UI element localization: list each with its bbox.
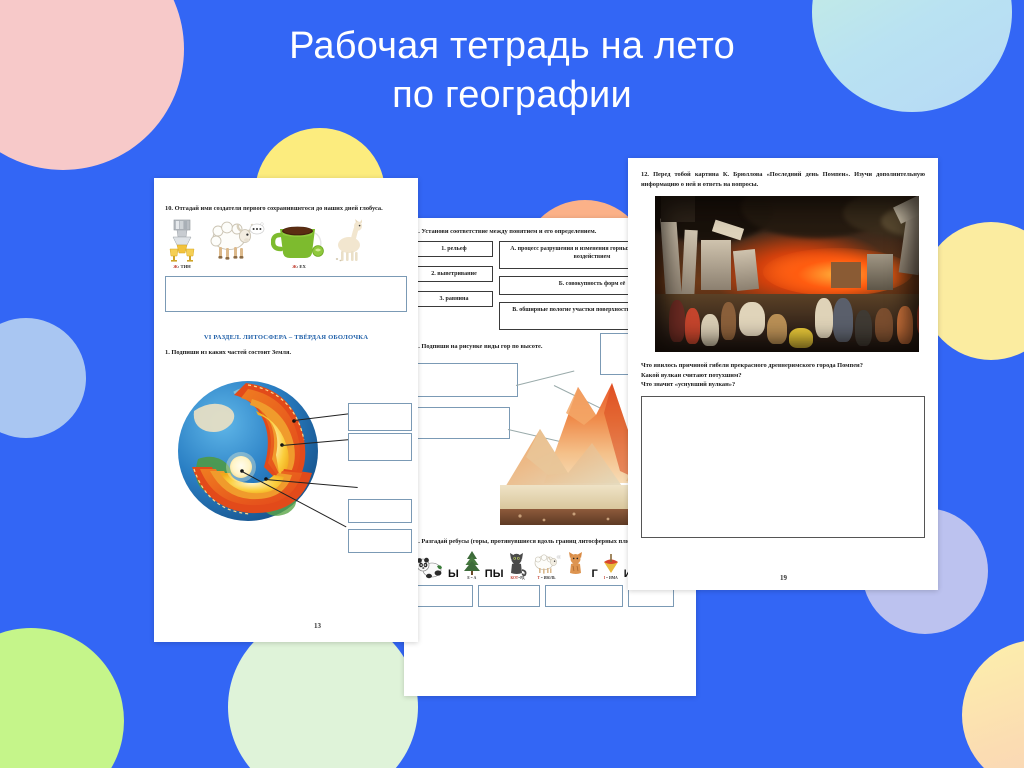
painting-last-day-of-pompeii bbox=[655, 196, 919, 352]
task9-text: Разгадай ребусы (горы, протянувшиеся вдо… bbox=[421, 538, 636, 545]
task1-prompt: 1. Подпиши из каких частей состоит Земля… bbox=[165, 348, 407, 358]
task10-caption-3: Ж: ЕХ bbox=[271, 264, 327, 269]
circle-peach-gradient-bottom-right bbox=[962, 640, 1024, 768]
task12-number: 12. bbox=[641, 171, 649, 178]
task12-prompt: 12. Перед тобой картина К. Брюллова «Пос… bbox=[641, 170, 925, 189]
task9-rebus-item-6: І = ИМА bbox=[601, 552, 621, 580]
task9-rebus-item-1 bbox=[415, 556, 445, 580]
cat-icon bbox=[506, 550, 528, 576]
task12-question-2: Какой вулкан считают потухшим? bbox=[641, 371, 925, 381]
page-title: Рабочая тетрадь на лето по географии bbox=[0, 22, 1024, 119]
sheep-icon bbox=[205, 219, 265, 263]
task9-letters-5: Г bbox=[591, 568, 597, 580]
task12-answer-box[interactable] bbox=[641, 396, 925, 538]
task9-caption-2: Е = А bbox=[462, 576, 482, 580]
lynx-icon bbox=[564, 550, 588, 576]
section-heading: VI РАЗДЕЛ. ЛИТОСФЕРА – ТВЁРДАЯ ОБОЛОЧКА bbox=[165, 334, 407, 341]
top-spinner-icon bbox=[601, 552, 621, 576]
task9-rebus-item-3: КОТ=РД bbox=[506, 550, 528, 580]
glass-beaker-icon bbox=[165, 219, 199, 263]
slide-canvas: Рабочая тетрадь на лето по географии 7. … bbox=[0, 0, 1024, 768]
task1-label-box-1[interactable] bbox=[348, 403, 412, 431]
sheep-icon bbox=[531, 552, 561, 576]
task10-rebus-row: Ж: ТИН bbox=[165, 219, 407, 269]
task10-answer-box[interactable] bbox=[165, 276, 407, 312]
task10-caption-4 bbox=[333, 264, 365, 269]
painting-vignette bbox=[655, 196, 919, 352]
task9-rebus-item-2: Е = А bbox=[462, 550, 482, 580]
worksheet-sheet-right[interactable]: 12. Перед тобой картина К. Брюллова «Пос… bbox=[628, 158, 938, 590]
llama-icon bbox=[333, 219, 365, 263]
task10-caption-2 bbox=[205, 264, 265, 269]
task9-letters-2: ПЫ bbox=[485, 568, 504, 580]
task9-rebus-item-5 bbox=[564, 550, 588, 580]
task10-rebus-item-4 bbox=[333, 219, 365, 269]
panda-icon bbox=[415, 556, 445, 580]
task9-answer-box-2[interactable] bbox=[478, 585, 540, 607]
task7-text: Установи соответствие между понятием и е… bbox=[421, 228, 596, 235]
task10-text: Отгадай имя создателя первого сохранивше… bbox=[175, 205, 383, 212]
task9-caption-4: Т = ИЮЛЬ bbox=[531, 576, 561, 580]
task12-question-3: Что значит «уснувший вулкан»? bbox=[641, 380, 925, 390]
task1-figure bbox=[154, 357, 418, 553]
task9-letters-1: Ы bbox=[448, 568, 459, 580]
task7-left-column: 1. рельеф 2. выветривание 3. равнина bbox=[415, 241, 493, 330]
task12-text: Перед тобой картина К. Брюллова «Последн… bbox=[641, 171, 925, 188]
task1-label-box-3[interactable] bbox=[348, 499, 412, 523]
page-number-right: 19 bbox=[780, 574, 787, 582]
task9-caption-5 bbox=[564, 576, 588, 580]
fir-tree-icon bbox=[462, 550, 482, 576]
task10-rebus-item-1: Ж: ТИН bbox=[165, 219, 199, 269]
green-cup-icon bbox=[271, 219, 327, 263]
task7-left-item-2[interactable]: 2. выветривание bbox=[415, 266, 493, 282]
worksheet-sheet-left[interactable]: 10. Отгадай имя создателя первого сохран… bbox=[154, 178, 418, 642]
task8-text: Подпиши на рисунке виды гор по высоте. bbox=[421, 343, 542, 350]
task9-answer-box-1[interactable] bbox=[415, 585, 473, 607]
task10-caption-1: Ж: ТИН bbox=[165, 264, 199, 269]
task10-prompt: 10. Отгадай имя создателя первого сохран… bbox=[165, 204, 407, 214]
task1-label-box-4[interactable] bbox=[348, 529, 412, 553]
task10-number: 10. bbox=[165, 205, 173, 212]
task10-rebus-item-3: Ж: ЕХ bbox=[271, 219, 327, 269]
title-line-2: по географии bbox=[0, 71, 1024, 120]
task10-rebus-item-2 bbox=[205, 219, 265, 269]
task9-caption-3: КОТ=РД bbox=[506, 576, 528, 580]
title-line-1: Рабочая тетрадь на лето bbox=[0, 22, 1024, 71]
task9-answer-box-3[interactable] bbox=[545, 585, 623, 607]
task1-number: 1. bbox=[165, 349, 170, 356]
task1-text: Подпиши из каких частей состоит Земля. bbox=[171, 349, 291, 356]
task1-label-box-2[interactable] bbox=[348, 433, 412, 461]
task7-left-item-3[interactable]: 3. равнина bbox=[415, 291, 493, 307]
task12-question-1: Что явилось причиной гибели прекрасного … bbox=[641, 361, 925, 371]
circle-green-bottom-left bbox=[0, 628, 124, 768]
task7-left-item-1[interactable]: 1. рельеф bbox=[415, 241, 493, 257]
task9-rebus-item-4: Т = ИЮЛЬ bbox=[531, 552, 561, 580]
task9-caption-6: І = ИМА bbox=[601, 576, 621, 580]
page-number-left: 13 bbox=[314, 622, 321, 630]
circle-blue-left bbox=[0, 318, 86, 438]
earth-cutaway-icon bbox=[168, 359, 344, 535]
